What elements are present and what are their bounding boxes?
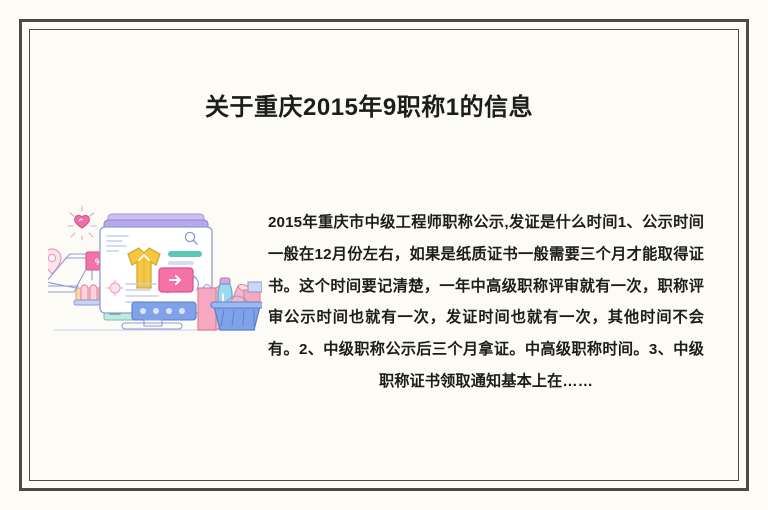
- display-stand: [122, 320, 182, 329]
- article-body: 2015年重庆市中级工程师职称公示,发证是什么时间1、公示时间一般在12月份左右…: [268, 207, 704, 398]
- heart-icon: [68, 206, 96, 240]
- page-title: 关于重庆2015年9职称1的信息: [205, 92, 533, 123]
- article-page: 关于重庆2015年9职称1的信息 .ol { fill:none; stroke…: [0, 0, 768, 510]
- pink-arrow-card: [159, 268, 198, 292]
- browser-window: [100, 214, 212, 313]
- browser-toolbar: [132, 302, 196, 320]
- online-shopping-illustration: .ol { fill:none; stroke:#8e9bd6; stroke-…: [48, 196, 262, 346]
- location-pin-icon: [48, 249, 61, 274]
